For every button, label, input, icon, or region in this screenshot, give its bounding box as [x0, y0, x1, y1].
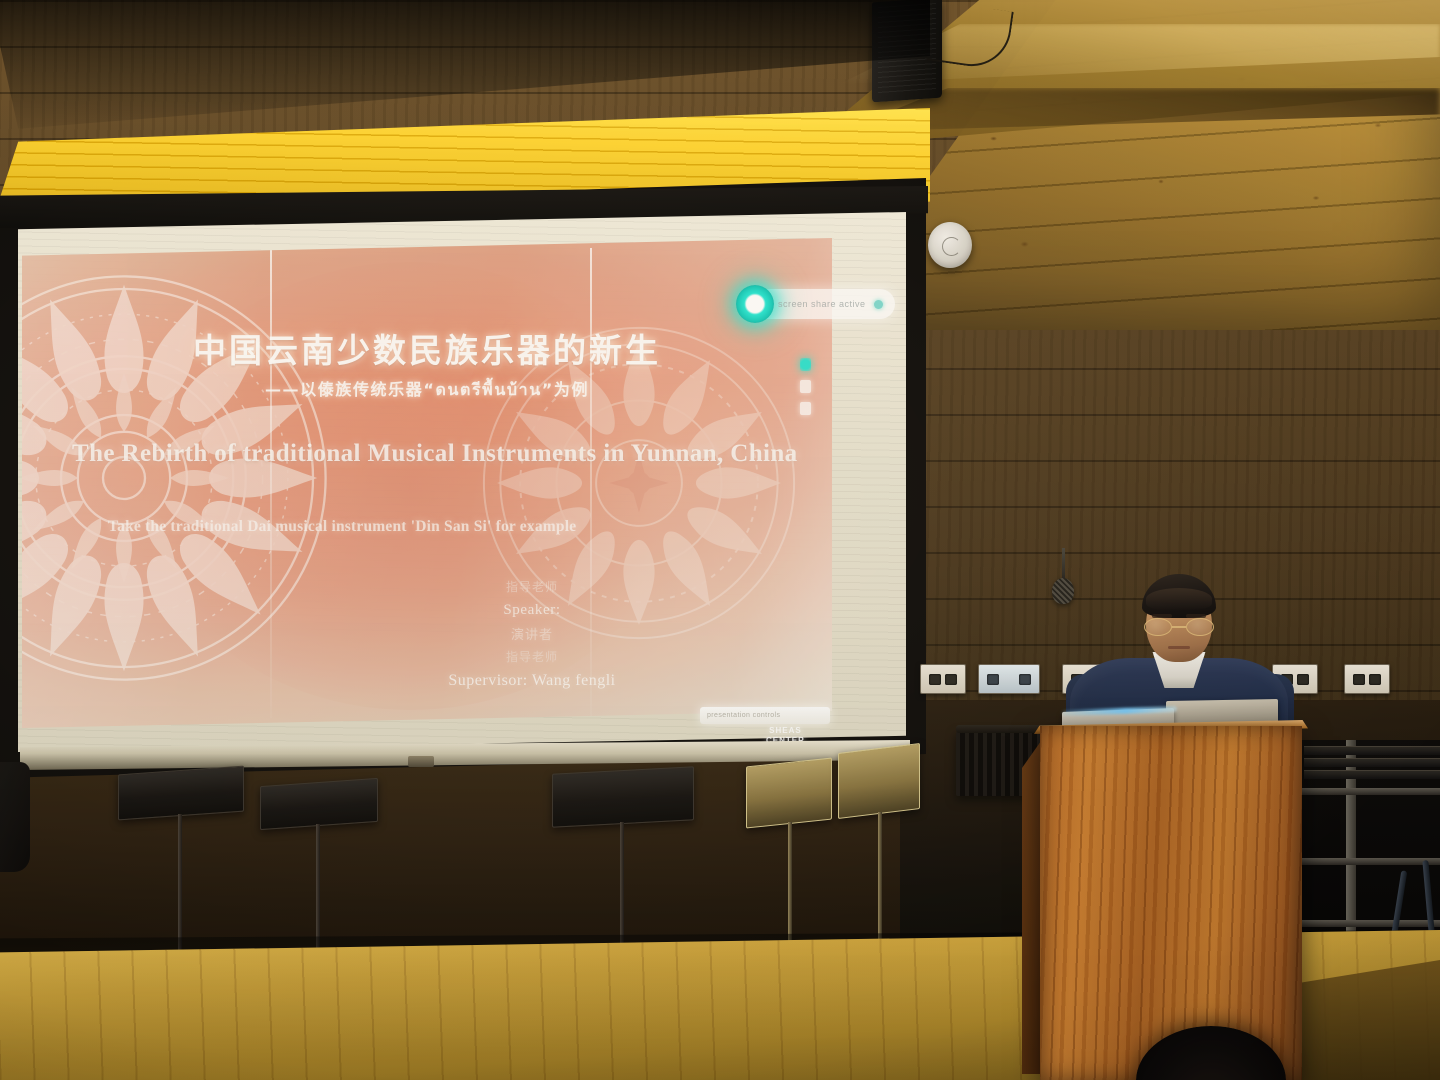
- mini-indicator-active-icon[interactable]: [800, 358, 811, 371]
- socket-hole-icon: [945, 674, 957, 685]
- wifi-access-point-icon: [928, 222, 972, 268]
- slide-meta-line-3: 演讲者: [272, 624, 792, 643]
- slide-supervisor-label: Supervisor: Wang fengli: [272, 672, 792, 690]
- rack-shelf: [1300, 920, 1440, 927]
- socket-hole-icon: [1369, 674, 1381, 685]
- music-stand-desk: [746, 757, 832, 828]
- music-stand-desk: [260, 778, 378, 830]
- watermark-line-1: SHEAS: [766, 726, 805, 736]
- rack-stacked-item: [1304, 770, 1440, 779]
- slide-subtitle-chinese: ——以傣族传统乐器“ดนตรีพื้นบ้าน”为例: [22, 376, 832, 403]
- rack-shelf: [1300, 788, 1440, 795]
- screen-share-widget-label: screen share active: [778, 299, 866, 309]
- wall-panel-plate: [978, 664, 1040, 694]
- slide-title-chinese: 中国云南少数民族乐器的新生: [22, 324, 832, 372]
- slide-text-block: 中国云南少数民族乐器的新生 ——以傣族传统乐器“ดนตรีพื้นบ้าน”为例…: [22, 238, 832, 728]
- glasses-bridge: [1172, 626, 1186, 628]
- slide-control-toolbar[interactable]: presentation controls: [700, 707, 830, 724]
- presenter-mouth: [1168, 646, 1190, 649]
- mini-indicator-icon-2[interactable]: [800, 380, 811, 393]
- mini-indicator-icon-3[interactable]: [800, 402, 811, 415]
- piano-edge: [0, 762, 30, 872]
- music-stand-desk: [838, 743, 920, 819]
- slide-meta-line-4: 指导老师: [272, 648, 792, 665]
- slide-title-english: The Rebirth of traditional Musical Instr…: [56, 438, 798, 470]
- wall-socket: [920, 664, 966, 694]
- wall-socket: [1344, 664, 1390, 694]
- glasses-icon: [1144, 618, 1214, 636]
- screen-rail-knob: [408, 756, 434, 767]
- socket-hole-icon: [1353, 674, 1365, 685]
- lecture-hall-photo: 中国云南少数民族乐器的新生 ——以傣族传统乐器“ดนตรีพื้นบ้าน”为例…: [0, 0, 1440, 1080]
- music-stand-desk: [118, 766, 244, 821]
- panel-port-icon: [1019, 674, 1031, 685]
- presenter-hair: [1142, 574, 1216, 618]
- rack-stacked-item: [1304, 758, 1440, 767]
- panel-port-icon: [987, 674, 999, 685]
- recording-indicator-icon[interactable]: [736, 285, 774, 323]
- socket-hole-icon: [929, 674, 941, 685]
- widget-mini-indicator-stack[interactable]: [800, 358, 811, 415]
- rack-shelf: [1300, 858, 1440, 865]
- music-stand-desk: [552, 766, 694, 827]
- glasses-lens-right: [1186, 618, 1214, 636]
- slide-speaker-label: Speaker:: [272, 602, 792, 619]
- widget-status-dot-icon: [874, 300, 883, 309]
- wooden-podium: [1040, 726, 1302, 1080]
- screen-share-widget[interactable]: screen share active: [742, 289, 895, 319]
- slide-toolbar-hint: presentation controls: [707, 712, 780, 719]
- slide-subtitle-english: Take the traditional Dai musical instrum…: [56, 518, 798, 536]
- rack-stacked-item: [1304, 746, 1440, 755]
- slide-meta-line-1: 指导老师: [272, 578, 792, 595]
- glasses-lens-left: [1144, 618, 1172, 636]
- projected-slide: 中国云南少数民族乐器的新生 ——以傣族传统乐器“ดนตรีพื้นบ้าน”为例…: [22, 238, 832, 728]
